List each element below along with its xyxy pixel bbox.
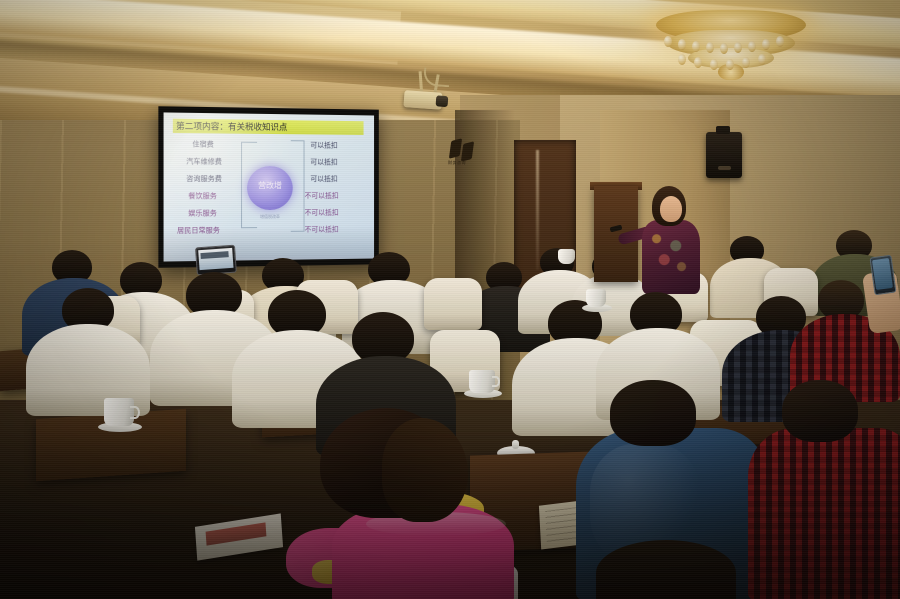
chandelier-bead: [776, 36, 784, 47]
cup-handle: [130, 406, 140, 419]
screen-sheen: [164, 112, 375, 261]
presenter-face: [660, 196, 682, 222]
chandelier-bead: [734, 42, 742, 53]
chandelier-bead: [726, 59, 734, 70]
seminar-room-photo: 财务咨询 第二项内容：有关税收知识点 住宿费 汽车维修费 咨询服务费 餐饮服务 …: [0, 0, 900, 599]
presenter: [636, 186, 712, 294]
chandelier-bead: [694, 57, 702, 68]
cup-body: [586, 289, 606, 307]
screen-surface: 第二项内容：有关税收知识点 住宿费 汽车维修费 咨询服务费 餐饮服务 娱乐服务 …: [164, 112, 375, 261]
front-row-attendee: [752, 386, 900, 599]
chandelier-bead: [692, 41, 700, 52]
chandelier-bead: [720, 43, 728, 54]
projection-screen: 第二项内容：有关税收知识点 住宿费 汽车维修费 咨询服务费 餐饮服务 娱乐服务 …: [158, 106, 378, 268]
tea-cup: [466, 368, 500, 396]
tea-cup: [100, 396, 140, 430]
chandelier-bead: [748, 41, 756, 52]
door-highlight: [536, 150, 539, 270]
chandelier-bead: [710, 59, 718, 70]
wall-logo-text: 财务咨询: [448, 160, 466, 166]
attendee-head: [596, 540, 736, 599]
attendee-head: [610, 380, 696, 446]
conference-chair[interactable]: [424, 278, 482, 330]
chandelier-bead: [664, 36, 672, 47]
wall-speaker-icon: [706, 132, 742, 178]
chandelier-bead: [678, 54, 686, 65]
presenter-top-pattern: [646, 226, 694, 284]
crystal-chandelier-icon: [648, 2, 813, 80]
projector-lens: [436, 95, 449, 107]
chandelier-bead: [706, 42, 714, 53]
logo-shape-right: [461, 141, 474, 162]
chandelier-bead: [678, 39, 686, 50]
attendee-hair: [382, 418, 468, 522]
speaker-bracket: [716, 126, 730, 134]
front-row-attendee: [286, 408, 522, 599]
chandelier-bead: [742, 57, 750, 68]
tea-cup: [584, 288, 610, 310]
attendee-head: [782, 380, 858, 442]
tea-cup: [556, 248, 578, 266]
chandelier-bead: [758, 54, 766, 65]
attendee-plaid-shirt: [748, 428, 900, 599]
cup-handle: [492, 376, 500, 387]
speaker-vent: [718, 166, 731, 170]
logo-shape-left: [449, 138, 462, 159]
wall-logo-icon: 财务咨询: [446, 140, 482, 170]
presentation-slide: 第二项内容：有关税收知识点 住宿费 汽车维修费 咨询服务费 餐饮服务 娱乐服务 …: [164, 112, 375, 261]
chandelier-bead: [762, 39, 770, 50]
ceiling-projector-icon: [403, 86, 459, 114]
cup-body: [558, 249, 575, 264]
